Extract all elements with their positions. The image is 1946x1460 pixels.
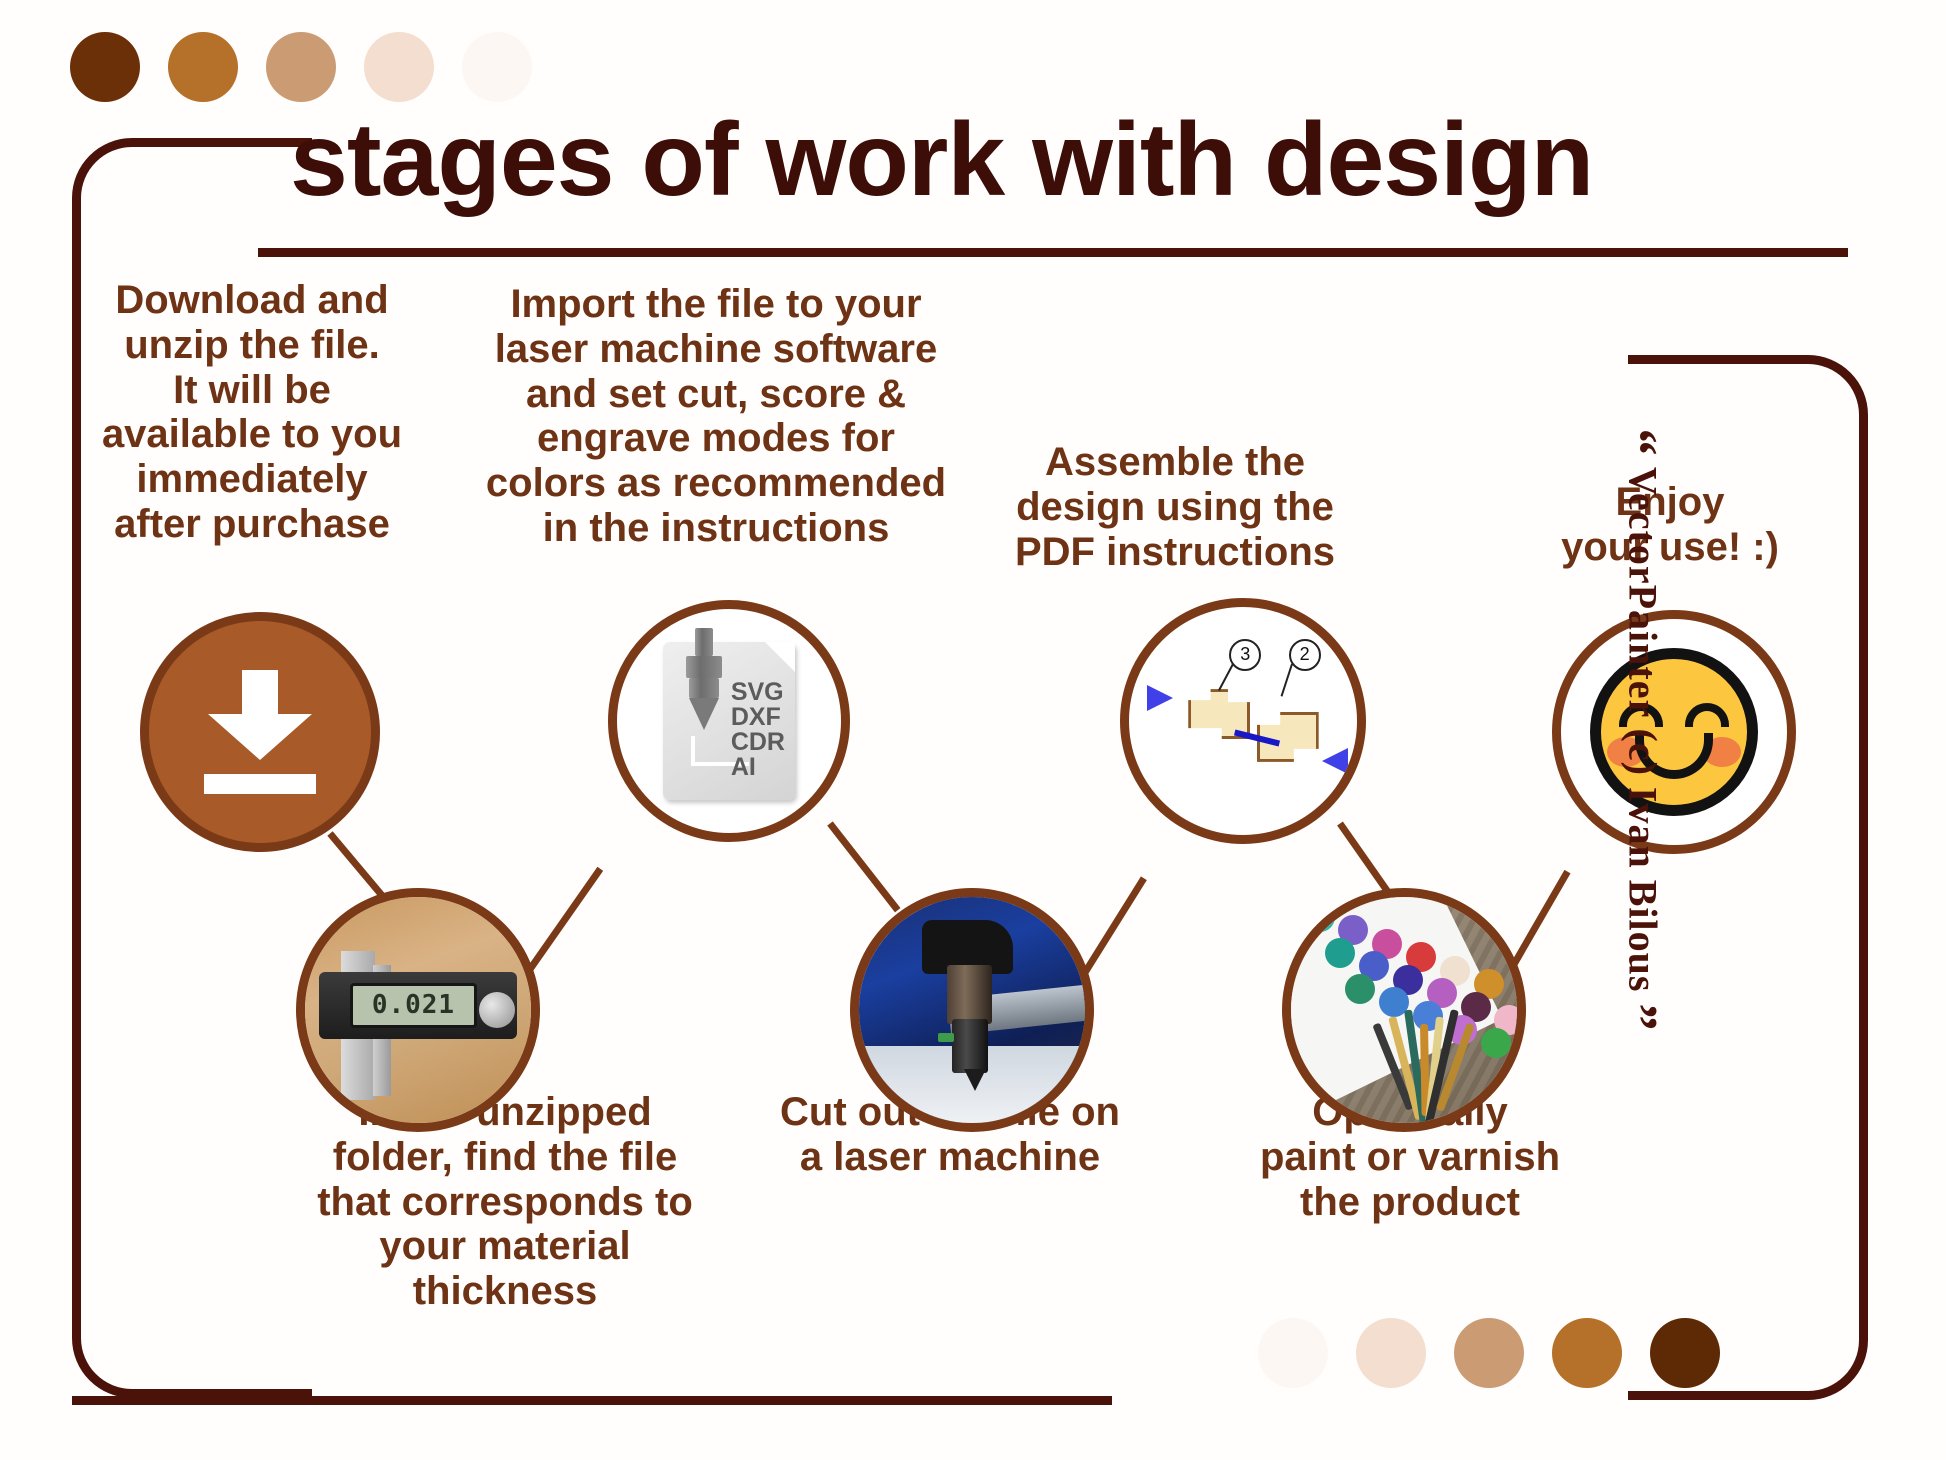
- palette-swatch: [70, 32, 140, 102]
- step-node-import-file: SVG DXF CDR AI: [608, 600, 850, 842]
- palette-swatch: [364, 32, 434, 102]
- smiley-face-icon: [1561, 619, 1787, 845]
- palette-swatch: [1454, 1318, 1524, 1388]
- step-caption-import-file: Import the file to your laser machine so…: [460, 282, 972, 551]
- caliper-lcd-reading: 0.021: [350, 983, 477, 1028]
- palette-swatch: [168, 32, 238, 102]
- close-quote-icon: ”: [1609, 1003, 1669, 1031]
- open-quote-icon: “: [1609, 429, 1669, 457]
- file-format: SVG: [731, 680, 785, 705]
- frame-bottom-rule: [72, 1396, 1112, 1405]
- infographic-canvas: stages of work with design Download and …: [0, 0, 1946, 1460]
- caliper-photo: 0.021: [305, 897, 531, 1123]
- watermark-text: VectorPainter (c) Ivan Bilous: [1620, 467, 1665, 993]
- page-title: stages of work with design: [290, 108, 1850, 212]
- assembly-label-bubble: 3: [1229, 639, 1261, 671]
- paint-well: [1345, 974, 1375, 1004]
- step-node-assemble: 3 2: [1120, 598, 1366, 844]
- step-node-unzipped-folder: 0.021: [296, 888, 540, 1132]
- laser-machine-photo: [859, 897, 1085, 1123]
- step-caption-assemble: Assemble the design using the PDF instru…: [1000, 440, 1350, 574]
- assembly-label-bubble: 2: [1289, 639, 1321, 671]
- title-underline: [258, 248, 1848, 257]
- color-palette-bottom: [1258, 1318, 1720, 1388]
- palette-swatch: [1650, 1318, 1720, 1388]
- assembly-arrow-right-icon: [1322, 748, 1348, 774]
- assembly-diagram: 3 2: [1129, 607, 1357, 835]
- file-format: CDR: [731, 730, 785, 755]
- palette-swatch: [266, 32, 336, 102]
- step-node-enjoy: [1552, 610, 1796, 854]
- paint-well: [1481, 1028, 1511, 1058]
- step-caption-download: Download and unzip the file. It will be …: [78, 278, 426, 547]
- file-format: DXF: [731, 705, 785, 730]
- paint-well: [1325, 938, 1355, 968]
- palette-swatch: [1356, 1318, 1426, 1388]
- download-arrow-icon: [149, 621, 371, 843]
- vector-file-icon: SVG DXF CDR AI: [617, 609, 841, 833]
- palette-swatch: [462, 32, 532, 102]
- step-node-paint-varnish: [1282, 888, 1526, 1132]
- step-caption-enjoy: Enjoy your use! :): [1530, 480, 1810, 570]
- paint-well: [1305, 902, 1335, 932]
- paint-well: [1515, 1042, 1526, 1072]
- assembly-arrow-left-icon: [1147, 685, 1173, 711]
- file-format-list: SVG DXF CDR AI: [731, 680, 785, 780]
- palette-swatch: [1258, 1318, 1328, 1388]
- step-node-cut-out: [850, 888, 1094, 1132]
- palette-swatch: [1552, 1318, 1622, 1388]
- step-node-download: [140, 612, 380, 852]
- color-palette-top: [70, 32, 532, 102]
- paints-brushes-photo: [1291, 897, 1517, 1123]
- step-caption-unzipped-folder: In the unzipped folder, find the file th…: [280, 1090, 730, 1314]
- file-format: AI: [731, 755, 785, 780]
- watermark-credit: “ VectorPainter (c) Ivan Bilous ”: [1608, 429, 1670, 1032]
- laser-head-icon: [677, 628, 731, 730]
- smiley-eye-right-icon: [1685, 703, 1729, 727]
